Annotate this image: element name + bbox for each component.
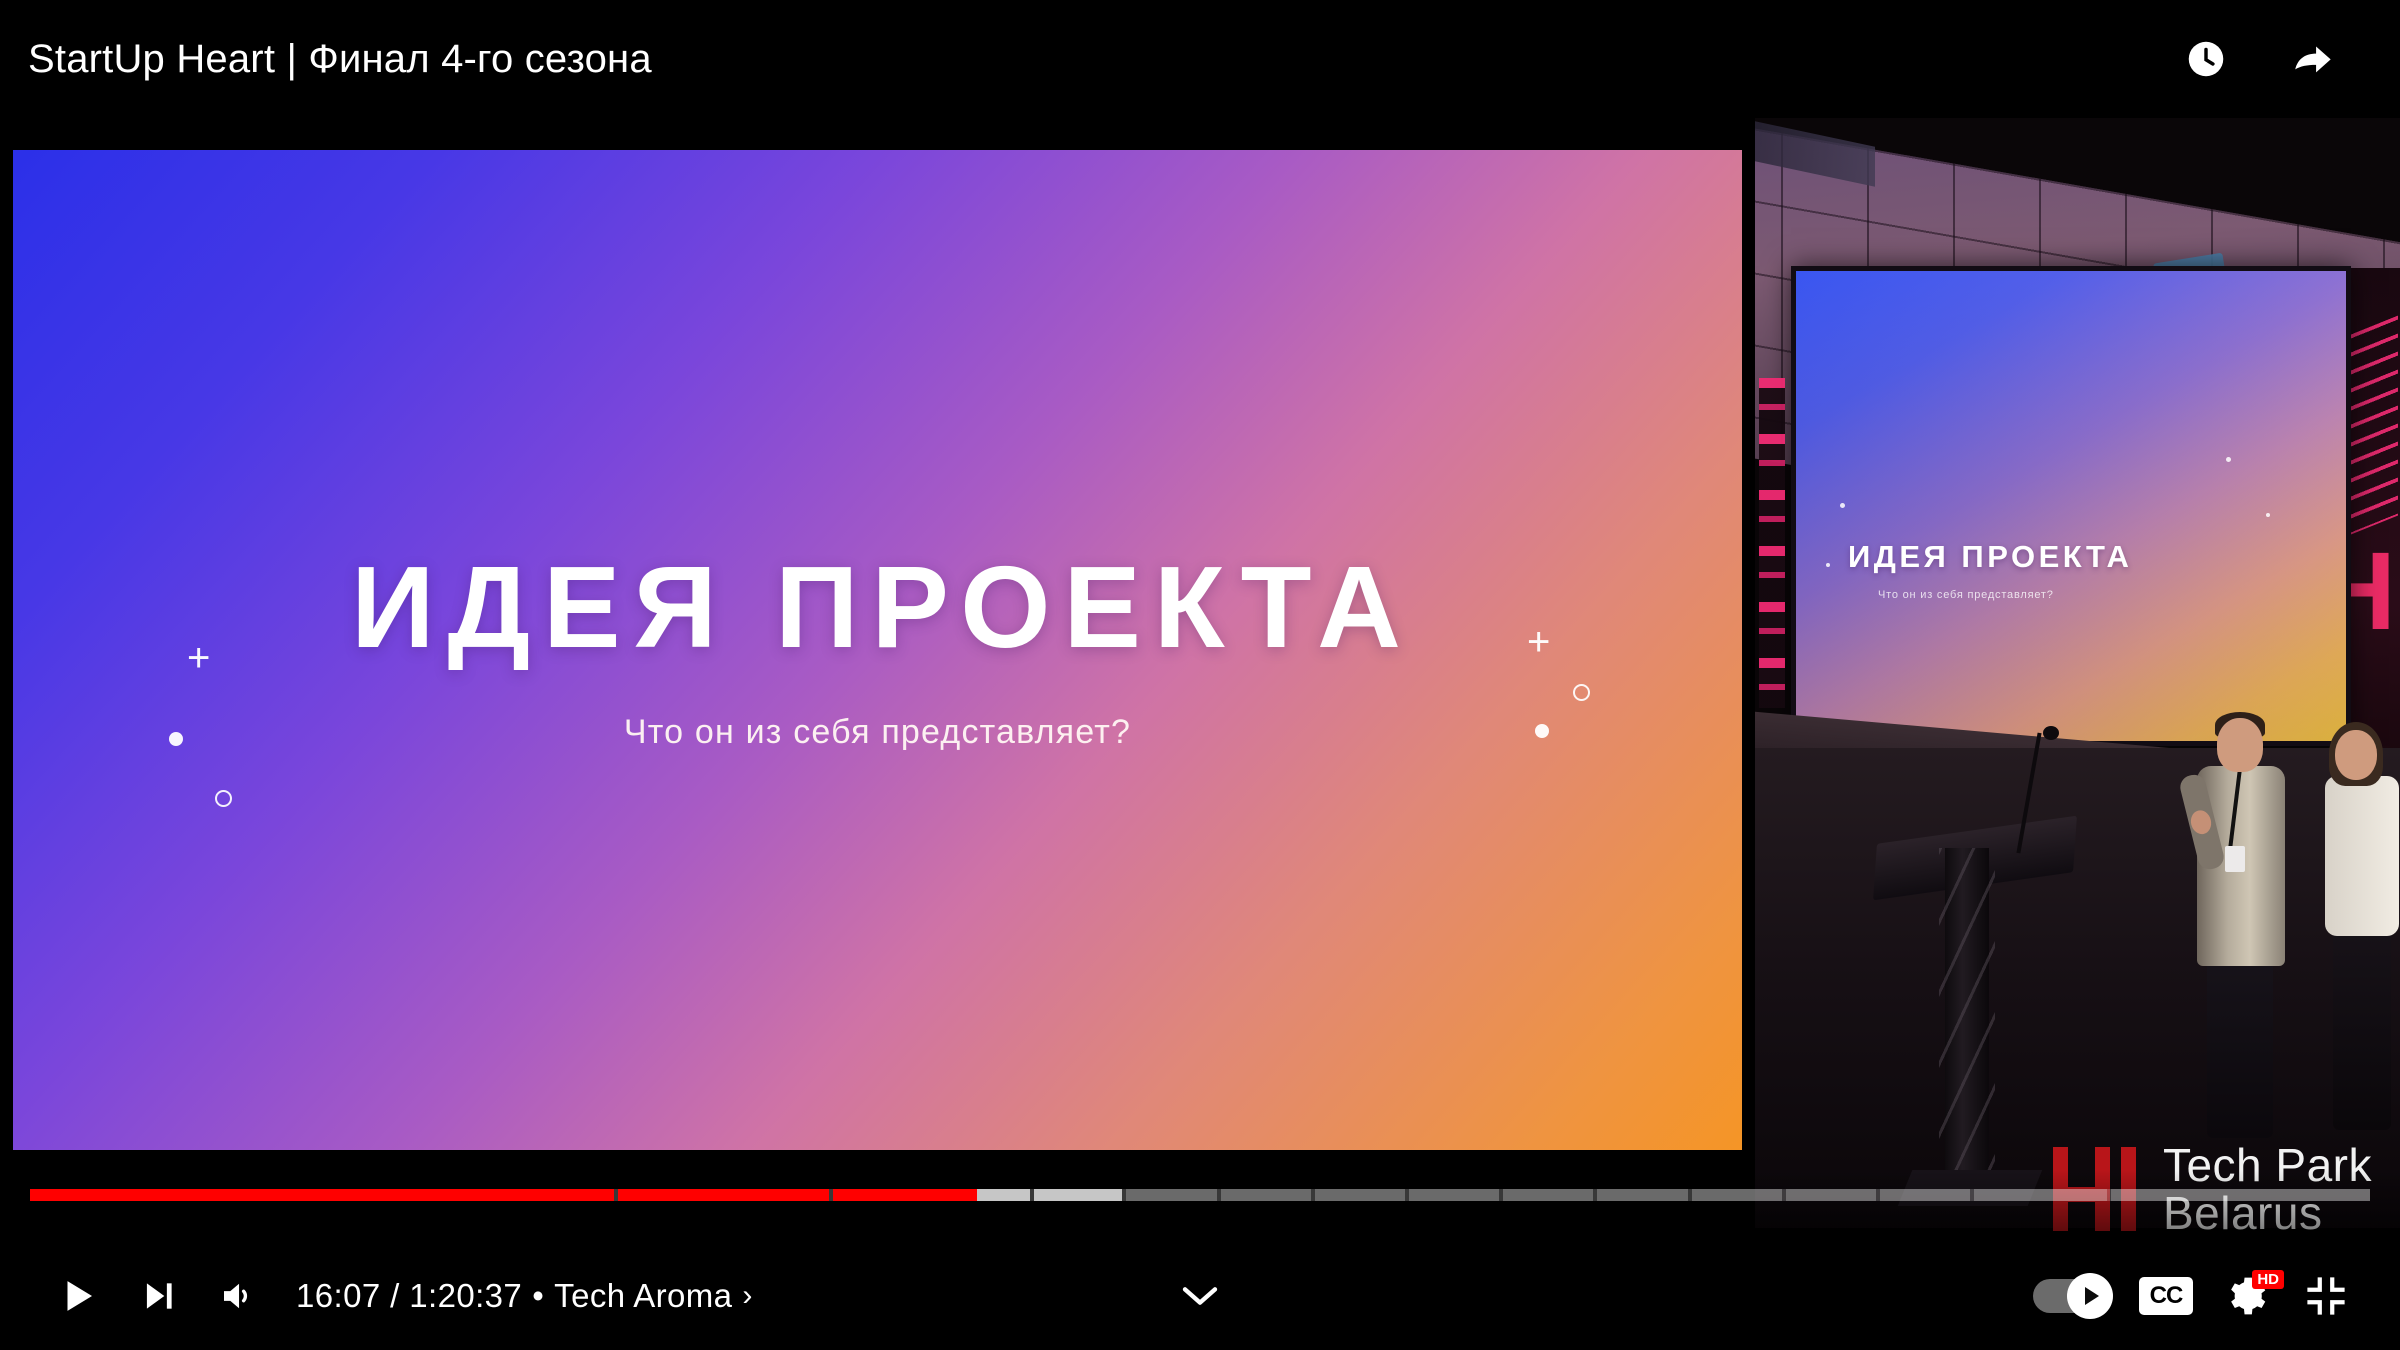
stage-camera-view: Н ИДЕЯ ПРОЕКТА Что он из себя представля…: [1755, 118, 2400, 1228]
volume-icon: [217, 1275, 259, 1317]
slide-title: ИДЕЯ ПРОЕКТА: [351, 549, 1414, 665]
share-button[interactable]: [2286, 31, 2342, 87]
screen-sparkle-icon: [2266, 513, 2270, 517]
progress-chapter-12[interactable]: [1786, 1189, 1876, 1201]
progress-chapter-3[interactable]: [833, 1189, 1030, 1201]
exit-fullscreen-icon: [2304, 1274, 2348, 1318]
watch-later-icon: [2183, 36, 2229, 82]
stage-screen-subtitle: Что он из себя представляет?: [1878, 589, 2054, 601]
progress-chapter-9[interactable]: [1503, 1189, 1593, 1201]
presenter-legs: [2207, 958, 2273, 1138]
play-button[interactable]: [38, 1256, 118, 1336]
play-icon: [57, 1275, 99, 1317]
channel-arrow-icon: ›: [742, 1279, 752, 1313]
presenter-hand: [2188, 808, 2213, 836]
progress-chapter-13[interactable]: [1880, 1189, 1970, 1201]
settings-button[interactable]: HD: [2206, 1256, 2286, 1336]
stage-screen-title: ИДЕЯ ПРОЕКТА: [1848, 539, 2132, 575]
autoplay-toggle[interactable]: [2016, 1256, 2126, 1336]
progress-track[interactable]: [30, 1189, 2370, 1201]
progress-chapter-2[interactable]: [618, 1189, 829, 1201]
progress-chapter-6[interactable]: [1221, 1189, 1311, 1201]
subtitles-button[interactable]: CC: [2126, 1256, 2206, 1336]
fullscreen-button[interactable]: [2286, 1256, 2366, 1336]
autoplay-switch[interactable]: [2033, 1279, 2109, 1313]
progress-chapter-15[interactable]: [2111, 1189, 2370, 1201]
time-separator: •: [532, 1277, 544, 1315]
progress-bar[interactable]: [30, 1182, 2370, 1208]
chapter-played: [833, 1189, 977, 1201]
autoplay-knob-icon: [2067, 1273, 2113, 1319]
second-presenter-legs: [2333, 930, 2391, 1130]
progress-chapter-10[interactable]: [1597, 1189, 1687, 1201]
screen-sparkle-icon: [1840, 503, 1845, 508]
chapter-buffered: [1034, 1189, 1122, 1201]
next-video-button[interactable]: [118, 1256, 198, 1336]
watch-later-button[interactable]: [2178, 31, 2234, 87]
progress-chapter-8[interactable]: [1409, 1189, 1499, 1201]
player-controls-bar: 16:07 / 1:20:37 • Tech Aroma › CC: [0, 1170, 2400, 1350]
chapter-played: [618, 1189, 829, 1201]
microphone-head: [2043, 726, 2059, 740]
volume-button[interactable]: [198, 1256, 278, 1336]
slide-subtitle: Что он из себя представляет?: [624, 713, 1131, 752]
podium: [1945, 848, 1989, 1188]
time-display: 16:07 / 1:20:37: [296, 1277, 522, 1315]
next-track-icon: [139, 1277, 177, 1315]
video-title: StartUp Heart | Финал 4-го сезона: [28, 37, 652, 82]
closed-captions-icon: CC: [2139, 1277, 2193, 1315]
channel-link[interactable]: Tech Aroma: [554, 1277, 732, 1315]
presentation-slide: + + ИДЕЯ ПРОЕКТА Что он из себя представ…: [13, 150, 1742, 1150]
video-viewport[interactable]: + + ИДЕЯ ПРОЕКТА Что он из себя представ…: [0, 118, 2400, 1228]
second-presenter: [2315, 730, 2400, 1130]
player-top-bar: StartUp Heart | Финал 4-го сезона: [0, 0, 2400, 118]
progress-chapter-7[interactable]: [1315, 1189, 1405, 1201]
video-player: + + ИДЕЯ ПРОЕКТА Что он из себя представ…: [0, 0, 2400, 1350]
progress-chapter-5[interactable]: [1126, 1189, 1216, 1201]
second-presenter-body: [2325, 776, 2399, 936]
screen-sparkle-icon: [2226, 457, 2231, 462]
time-and-channel: 16:07 / 1:20:37 • Tech Aroma ›: [296, 1277, 753, 1315]
progress-chapter-1[interactable]: [30, 1189, 614, 1201]
second-presenter-head: [2335, 730, 2377, 780]
chapter-played: [30, 1189, 614, 1201]
led-stage-screen: ИДЕЯ ПРОЕКТА Что он из себя представляет…: [1791, 266, 2351, 746]
presenter-badge: [2225, 846, 2245, 872]
led-light-strip: [1759, 378, 1785, 708]
progress-chapter-4[interactable]: [1034, 1189, 1122, 1201]
share-icon: [2289, 34, 2339, 84]
progress-chapter-14[interactable]: [1974, 1189, 2107, 1201]
presenter-head: [2217, 718, 2263, 772]
quality-badge: HD: [2252, 1270, 2284, 1289]
progress-chapter-11[interactable]: [1692, 1189, 1782, 1201]
screen-sparkle-icon: [1826, 563, 1830, 567]
presenter: [2185, 718, 2291, 1138]
